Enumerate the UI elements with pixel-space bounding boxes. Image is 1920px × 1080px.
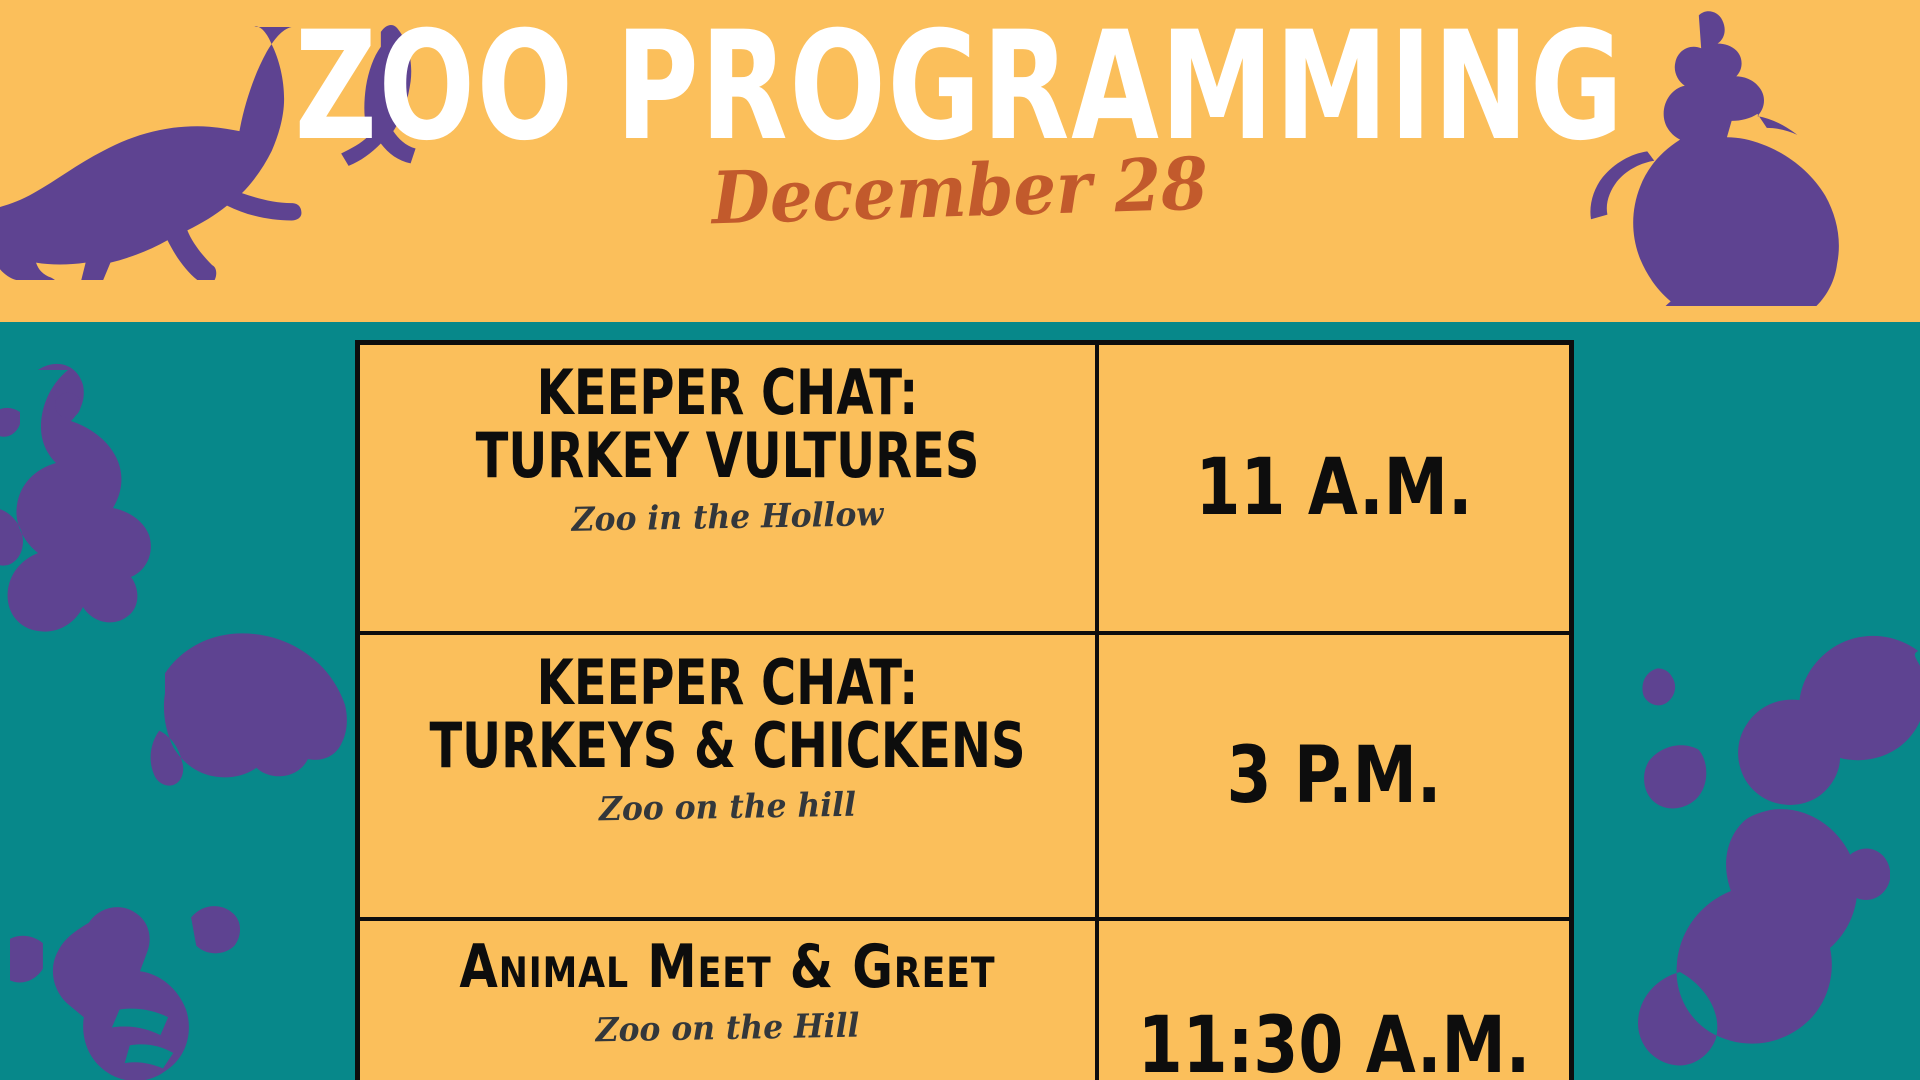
page-subtitle-date: December 28 bbox=[711, 148, 1209, 235]
event-cell: KEEPER CHAT: TURKEYS & CHICKENS Zoo on t… bbox=[358, 633, 1098, 919]
event-location: Zoo in the Hollow bbox=[395, 491, 1060, 542]
event-time: 11 A.M. bbox=[1116, 343, 1553, 634]
schedule-table: KEEPER CHAT: TURKEY VULTURES Zoo in the … bbox=[355, 340, 1574, 1080]
parrot-icon bbox=[1590, 792, 1890, 1080]
event-time: 11:30 A.M. bbox=[1116, 919, 1553, 1080]
event-title: KEEPER CHAT: TURKEY VULTURES bbox=[427, 361, 1028, 487]
bee-icon bbox=[10, 892, 270, 1080]
table-row: KEEPER CHAT: TURKEY VULTURES Zoo in the … bbox=[358, 343, 1572, 634]
event-cell: Animal Meet & Greet Zoo on the Hill bbox=[358, 919, 1098, 1080]
event-cell: KEEPER CHAT: TURKEY VULTURES Zoo in the … bbox=[358, 343, 1098, 634]
table-row: KEEPER CHAT: TURKEYS & CHICKENS Zoo on t… bbox=[358, 633, 1572, 919]
event-time: 3 P.M. bbox=[1116, 633, 1553, 919]
event-location: Zoo on the hill bbox=[395, 781, 1060, 832]
poster-header: ZOO PROGRAMMING December 28 bbox=[0, 0, 1920, 322]
table-row: Animal Meet & Greet Zoo on the Hill 11:3… bbox=[358, 919, 1572, 1080]
lizard-icon bbox=[0, 342, 272, 662]
event-title: KEEPER CHAT: TURKEYS & CHICKENS bbox=[427, 651, 1028, 777]
event-location: Zoo on the Hill bbox=[395, 1002, 1060, 1053]
event-title: Animal Meet & Greet bbox=[406, 937, 1049, 998]
schedule-table-container: KEEPER CHAT: TURKEY VULTURES Zoo in the … bbox=[355, 340, 1565, 1080]
zoo-programming-poster: ZOO PROGRAMMING December 28 KEEPER CHAT:… bbox=[0, 0, 1920, 1080]
page-title: ZOO PROGRAMMING bbox=[295, 14, 1625, 161]
